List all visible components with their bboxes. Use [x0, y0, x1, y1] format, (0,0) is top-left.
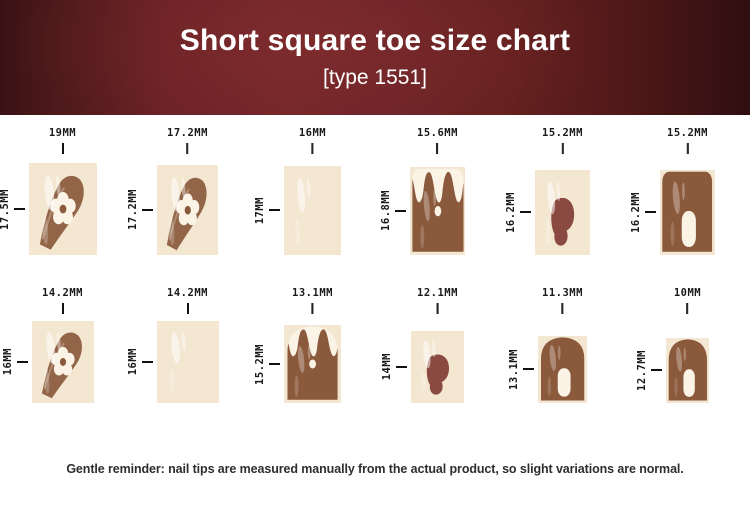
width-dimension: 11.3MM	[538, 287, 587, 314]
height-dimension-line	[142, 361, 153, 363]
height-dimension: 16.2MM	[630, 170, 656, 255]
width-dimension-line	[62, 303, 64, 314]
width-label: 14.2MM	[42, 287, 83, 299]
dimension-cap-bottom	[396, 367, 407, 368]
footer: Gentle reminder: nail tips are measured …	[0, 455, 750, 508]
height-dimension-line	[17, 361, 28, 363]
height-dimension: 17.2MM	[127, 165, 153, 255]
dimension-cap-bottom	[269, 364, 280, 365]
width-dimension: 19MM	[29, 127, 97, 154]
nail-tip-3	[284, 166, 341, 255]
nail-tip-4	[410, 167, 466, 255]
width-label: 13.1MM	[292, 287, 333, 299]
nail-size-cell: 14.2MM 16MM	[125, 287, 250, 437]
height-label: 16MM	[127, 348, 139, 375]
dimension-cap-bottom	[520, 212, 531, 213]
width-dimension-line	[687, 303, 689, 314]
height-dimension: 16MM	[127, 321, 153, 403]
dimension-cap-bottom	[17, 362, 28, 363]
dimension-cap-right	[63, 303, 64, 314]
width-dimension-line	[312, 143, 314, 154]
height-dimension: 12.7MM	[636, 338, 662, 403]
width-dimension: 15.2MM	[660, 127, 714, 154]
nail-size-cell: 14.2MM 16MM	[0, 287, 125, 437]
width-label: 19MM	[49, 127, 76, 139]
height-label: 14MM	[381, 353, 393, 380]
dimension-cap-right	[313, 303, 314, 314]
dimension-cap-bottom	[269, 210, 280, 211]
dimension-cap-right	[313, 143, 314, 154]
height-dimension-line	[395, 210, 406, 212]
nail-size-cell: 11.3MM 13.1MM	[500, 287, 625, 437]
nail-tip-12	[666, 338, 710, 403]
dimension-cap-bottom	[523, 369, 534, 370]
height-dimension-line	[269, 209, 280, 211]
dimension-cap-bottom	[395, 211, 406, 212]
height-label: 17MM	[254, 197, 266, 224]
height-dimension-line	[396, 366, 407, 368]
nail-row-2: 14.2MM 16MM 14.2MM	[0, 287, 750, 437]
width-dimension: 14.2MM	[157, 287, 219, 314]
width-dimension: 16MM	[284, 127, 341, 154]
height-dimension: 16.2MM	[505, 170, 531, 255]
page-title: Short square toe size chart	[180, 25, 571, 57]
height-dimension: 16MM	[2, 321, 28, 403]
nail-tip-7	[32, 321, 94, 403]
width-dimension-line	[62, 143, 64, 154]
width-dimension-line	[186, 143, 188, 154]
height-label: 17.5MM	[0, 189, 11, 230]
nail-tip-11	[538, 336, 587, 403]
height-dimension: 17MM	[254, 166, 280, 255]
height-dimension-line	[651, 369, 662, 371]
height-dimension: 13.1MM	[508, 336, 534, 403]
width-dimension-line	[312, 303, 314, 314]
dimension-cap-right	[687, 143, 688, 154]
dimension-cap-right	[187, 143, 188, 154]
nail-size-cell: 19MM 17.5MM	[0, 127, 125, 287]
nail-size-cell: 17.2MM 17.2MM	[125, 127, 250, 287]
width-label: 15.2MM	[542, 127, 583, 139]
width-label: 11.3MM	[542, 287, 583, 299]
height-label: 12.7MM	[636, 350, 648, 391]
width-label: 15.6MM	[417, 127, 458, 139]
width-label: 15.2MM	[667, 127, 708, 139]
width-dimension-line	[436, 303, 438, 314]
nail-size-cell: 10MM 12.7MM	[625, 287, 750, 437]
height-dimension-line	[645, 211, 656, 213]
size-chart: 19MM 17.5MM 17.2MM	[0, 115, 750, 455]
dimension-cap-right	[562, 303, 563, 314]
dimension-cap-bottom	[142, 210, 153, 211]
height-dimension: 17.5MM	[0, 163, 25, 255]
height-label: 16.8MM	[380, 190, 392, 231]
height-dimension: 14MM	[381, 331, 407, 403]
nail-tip-10	[411, 331, 464, 403]
width-dimension-line	[561, 143, 563, 154]
nail-tip-5	[535, 170, 589, 255]
dimension-cap-right	[437, 143, 438, 154]
width-label: 10MM	[674, 287, 701, 299]
height-label: 13.1MM	[508, 349, 520, 390]
dimension-cap-bottom	[645, 212, 656, 213]
header-banner: Short square toe size chart [type 1551]	[0, 0, 750, 115]
height-label: 16.2MM	[630, 192, 642, 233]
height-dimension-line	[142, 209, 153, 211]
width-label: 17.2MM	[167, 127, 208, 139]
page-subtitle: [type 1551]	[323, 66, 427, 90]
nail-size-cell: 13.1MM 15.2MM	[250, 287, 375, 437]
nail-tip-6	[660, 170, 714, 255]
nail-size-cell: 15.2MM 16.2MM	[500, 127, 625, 287]
width-dimension-line	[686, 143, 688, 154]
height-dimension-line	[269, 363, 280, 365]
dimension-cap-right	[188, 303, 189, 314]
width-dimension: 15.6MM	[410, 127, 466, 154]
nail-row-1: 19MM 17.5MM 17.2MM	[0, 127, 750, 287]
width-dimension-line	[561, 303, 563, 314]
dimension-cap-right	[562, 143, 563, 154]
width-dimension-line	[436, 143, 438, 154]
dimension-cap-bottom	[14, 209, 25, 210]
nail-tip-9	[284, 325, 341, 403]
nail-size-cell: 16MM 17MM	[250, 127, 375, 287]
nail-tip-1	[29, 163, 97, 255]
width-dimension: 15.2MM	[535, 127, 589, 154]
height-dimension-line	[520, 211, 531, 213]
nail-tip-8	[157, 321, 219, 403]
dimension-cap-right	[437, 303, 438, 314]
nail-tip-2	[157, 165, 219, 255]
width-dimension-line	[187, 303, 189, 314]
nail-size-cell: 12.1MM 14MM	[375, 287, 500, 437]
nail-size-cell: 15.2MM 16.2MM	[625, 127, 750, 287]
width-dimension: 10MM	[666, 287, 710, 314]
dimension-cap-bottom	[142, 362, 153, 363]
width-label: 14.2MM	[167, 287, 208, 299]
reminder-note: Gentle reminder: nail tips are measured …	[66, 462, 683, 476]
dimension-cap-right	[63, 143, 64, 154]
height-dimension: 16.8MM	[380, 167, 406, 255]
height-dimension-line	[14, 208, 25, 210]
nail-size-cell: 15.6MM 16.8MM	[375, 127, 500, 287]
width-dimension: 12.1MM	[411, 287, 464, 314]
height-dimension-line	[523, 368, 534, 370]
dimension-cap-right	[688, 303, 689, 314]
width-dimension: 17.2MM	[157, 127, 219, 154]
dimension-cap-bottom	[651, 370, 662, 371]
width-label: 12.1MM	[417, 287, 458, 299]
height-label: 15.2MM	[254, 344, 266, 385]
width-dimension: 13.1MM	[284, 287, 341, 314]
height-label: 17.2MM	[127, 189, 139, 230]
width-dimension: 14.2MM	[32, 287, 94, 314]
height-dimension: 15.2MM	[254, 325, 280, 403]
width-label: 16MM	[299, 127, 326, 139]
height-label: 16MM	[2, 348, 14, 375]
height-label: 16.2MM	[505, 192, 517, 233]
